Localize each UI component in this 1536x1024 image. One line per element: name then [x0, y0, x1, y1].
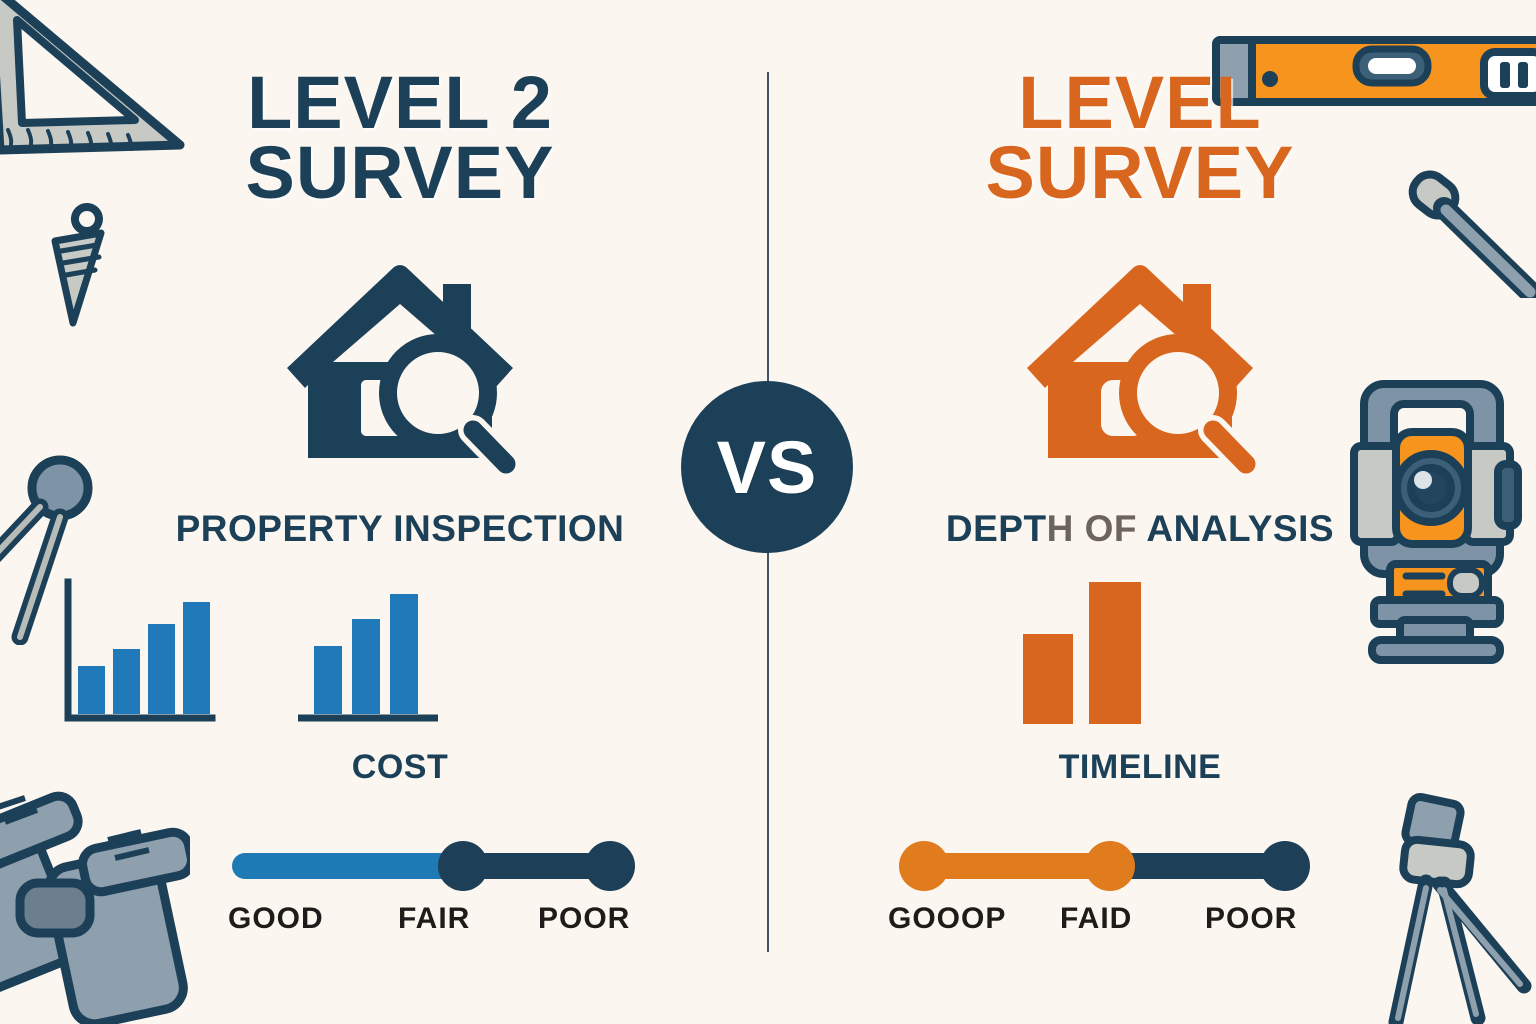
right-panel: LEVEL SURVEY DEPTH OF ANALYSIS: [790, 0, 1490, 1024]
left-slider[interactable]: [50, 840, 750, 892]
left-scale-label-fair: FAIR: [398, 902, 470, 936]
right-sublabel-part2: H OF: [1047, 508, 1137, 549]
left-icon-wrap: [50, 250, 750, 485]
right-sublabel-part1: DEPT: [946, 508, 1047, 549]
left-metric-label: COST: [50, 748, 750, 787]
right-metric-label: TIMELINE: [790, 748, 1490, 787]
left-scale-label-good: GOOD: [228, 902, 324, 936]
right-icon-wrap: [790, 250, 1490, 485]
house-magnifier-icon: [1015, 250, 1265, 480]
right-title-line2: SURVEY: [790, 138, 1490, 208]
infographic-canvas: VS LEVEL 2 SURVEY: [0, 0, 1536, 1024]
right-slider-knob-good: [899, 841, 949, 891]
right-slider[interactable]: [790, 840, 1490, 892]
left-sublabel: PROPERTY INSPECTION: [50, 508, 750, 550]
left-charts: [50, 578, 750, 728]
right-bar-chart-group-1: [1005, 568, 1165, 728]
house-magnifier-icon: [275, 250, 525, 480]
right-slider-knob-fair: [1085, 841, 1135, 891]
left-slider-knob-fair: [438, 841, 488, 891]
right-title: LEVEL SURVEY: [790, 68, 1490, 209]
left-bar-chart-group-2: [298, 578, 438, 728]
left-title-line2: SURVEY: [50, 138, 750, 208]
left-bar-chart-group-1: [60, 578, 220, 728]
right-scale-label-good: GOOOP: [888, 902, 1006, 936]
right-sublabel-part3: ANALYSIS: [1137, 508, 1334, 549]
left-panel: LEVEL 2 SURVEY PROPERTY: [50, 0, 750, 1024]
left-title: LEVEL 2 SURVEY: [50, 68, 750, 209]
left-scale: GOOD FAIR POOR: [50, 902, 750, 950]
right-scale-label-fair: FAID: [1060, 902, 1132, 936]
left-scale-label-poor: POOR: [538, 902, 630, 936]
left-slider-knob-poor: [585, 841, 635, 891]
right-scale-label-poor: POOR: [1205, 902, 1297, 936]
right-sublabel: DEPTH OF ANALYSIS: [790, 508, 1490, 550]
right-scale: GOOOP FAID POOR: [790, 902, 1490, 950]
right-charts: [790, 578, 1490, 728]
right-slider-knob-poor: [1260, 841, 1310, 891]
